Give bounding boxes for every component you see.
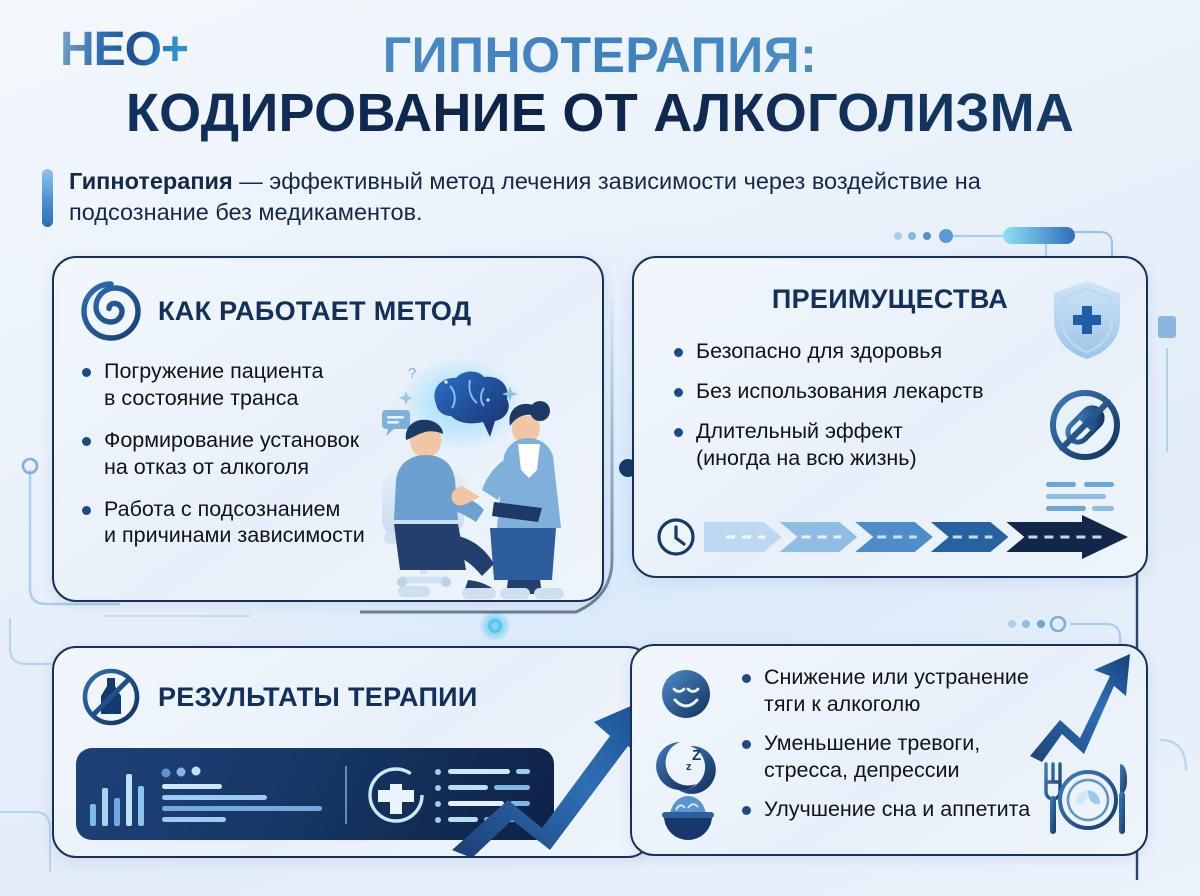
list-item: Улучшение сна и аппетита	[740, 796, 1080, 823]
list-item: Без использования лекарств	[672, 378, 1032, 405]
method-bullet-list: Погружение пациентав состояние транса Фо…	[80, 358, 440, 549]
infographic-root: НЕО+ ГИПНОТЕРАПИЯ: КОДИРОВАНИЕ ОТ АЛКОГО…	[0, 0, 1200, 896]
clock-icon	[656, 517, 696, 557]
svg-text:z: z	[686, 761, 692, 773]
method-card-header: КАК РАБОТАЕТ МЕТОД	[54, 258, 602, 342]
progress-chevron-bar	[704, 514, 1128, 560]
title-line-1: ГИПНОТЕРАПИЯ:	[0, 28, 1200, 82]
subtitle-block: Гипнотерапия — эффективный метод лечения…	[42, 166, 1122, 229]
results-card-title: РЕЗУЛЬТАТЫ ТЕРАПИИ	[158, 682, 478, 712]
list-item: Погружение пациентав состояние транса	[80, 358, 440, 412]
effects-icon-column: Z z	[656, 668, 730, 840]
subtitle-lead: Гипнотерапия	[69, 168, 233, 194]
text-lines-icon	[1046, 480, 1120, 514]
growth-arrow-icon	[442, 662, 652, 858]
shield-plus-icon	[1050, 278, 1124, 362]
advantages-card-title: ПРЕИМУЩЕСТВА	[772, 284, 1008, 314]
method-card-title: КАК РАБОТАЕТ МЕТОД	[158, 296, 471, 326]
card-advantages: ПРЕИМУЩЕСТВА Безопасно для здоровья Без …	[632, 256, 1148, 578]
bar-chart-icon	[90, 774, 144, 826]
list-item: Формирование установокна отказ от алкого…	[80, 427, 440, 481]
text-lines-icon	[162, 767, 323, 823]
title-line-2: КОДИРОВАНИЕ ОТ АЛКОГОЛИЗМА	[0, 84, 1200, 142]
growth-arrow-icon	[1026, 650, 1136, 762]
card-how-method-works: КАК РАБОТАЕТ МЕТОД Погружение пациентав …	[52, 256, 604, 602]
list-item: Работа с подсознаниеми причинами зависим…	[80, 496, 440, 550]
svg-text:Z: Z	[692, 747, 701, 764]
advantages-bullet-list: Безопасно для здоровья Без использования…	[672, 338, 1032, 472]
card-therapy-results: РЕЗУЛЬТАТЫ ТЕРАПИИ	[52, 646, 652, 858]
no-pill-icon	[1048, 388, 1122, 462]
smiling-face-icon	[662, 670, 710, 718]
list-item: Безопасно для здоровья	[672, 338, 1032, 365]
circle-plus-icon	[370, 769, 422, 821]
plate-fork-knife-icon	[1038, 760, 1130, 838]
subtitle-text: Гипнотерапия — эффективный метод лечения…	[69, 166, 1122, 229]
page-title: ГИПНОТЕРАПИЯ: КОДИРОВАНИЕ ОТ АЛКОГОЛИЗМА	[0, 28, 1200, 142]
no-alcohol-bottle-icon	[80, 666, 142, 728]
long-effect-progress	[656, 514, 1130, 560]
spiral-hypnosis-icon	[80, 280, 142, 342]
sleeping-moon-icon: Z z	[656, 742, 716, 794]
card-therapy-effects: Z z Снижение или устранениетяги к алкого…	[630, 644, 1148, 856]
accent-bar	[42, 169, 53, 227]
food-bowl-icon	[662, 796, 714, 840]
list-item: Длительный эффект(иногда на всю жизнь)	[672, 418, 1032, 472]
